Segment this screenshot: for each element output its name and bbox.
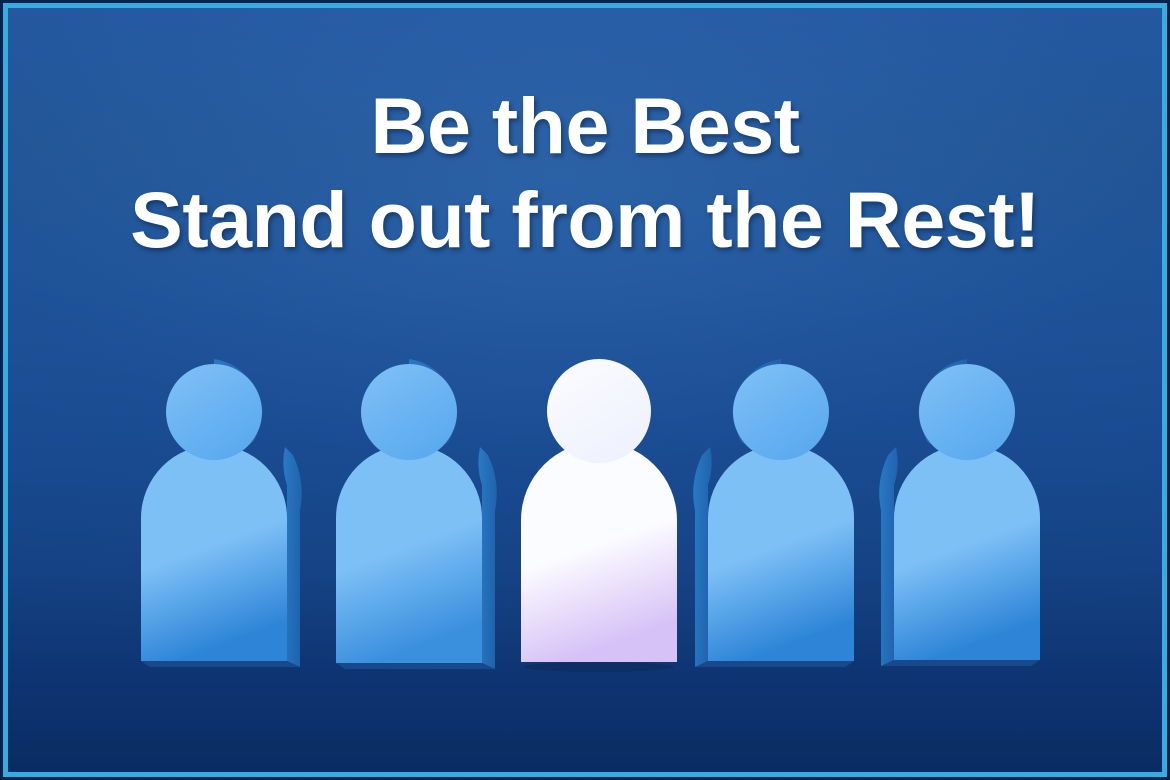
figure-body [141, 445, 287, 661]
figure-person-1 [127, 350, 301, 685]
figure-head [361, 364, 457, 460]
figure-person-5 [880, 350, 1054, 684]
figure-head [919, 364, 1015, 460]
poster: Be the Best Stand out from the Rest! [0, 0, 1170, 780]
poster-accent-border: Be the Best Stand out from the Rest! [3, 3, 1167, 777]
figure-person-3 [507, 345, 691, 686]
figure-head [166, 364, 262, 460]
figure-head [547, 359, 651, 463]
figure-body [521, 442, 677, 662]
headline-block: Be the Best Stand out from the Rest! [8, 80, 1162, 267]
headline-line-2: Stand out from the Rest! [8, 172, 1162, 267]
figure-person-2 [322, 350, 496, 687]
figure-body [708, 445, 854, 661]
headline-line-1: Be the Best [8, 80, 1162, 172]
figure-body [336, 445, 482, 663]
figure-person-4 [694, 350, 868, 685]
figure-head [733, 364, 829, 460]
figure-body [894, 445, 1040, 660]
poster-canvas: Be the Best Stand out from the Rest! [8, 8, 1162, 772]
